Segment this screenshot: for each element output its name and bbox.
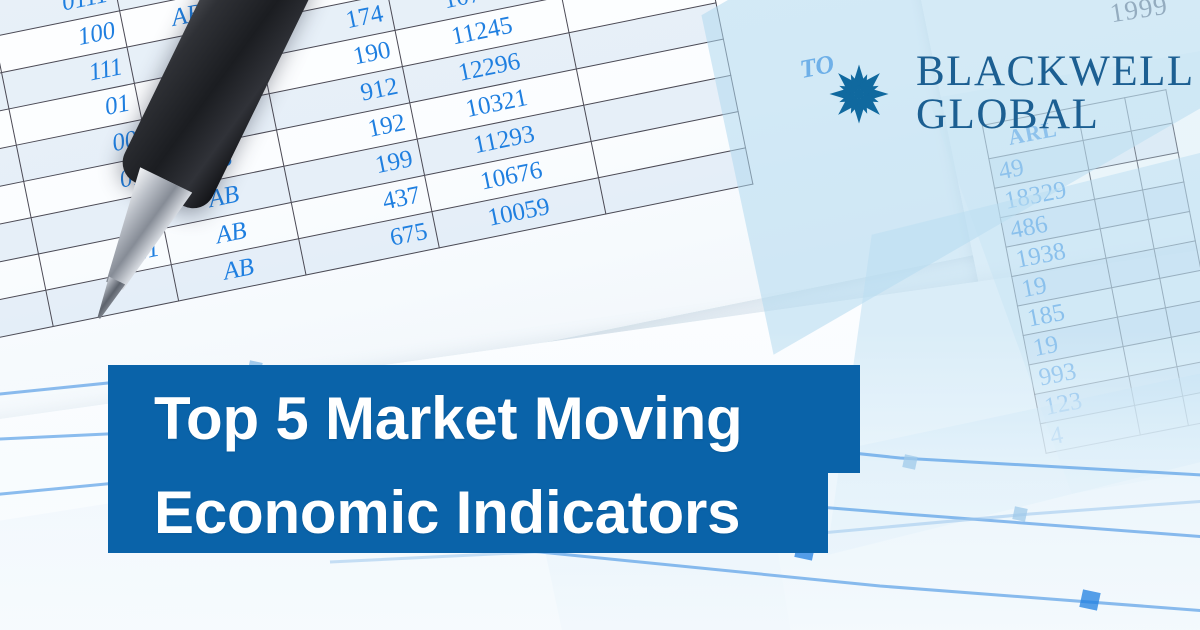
banner-line-2: Economic Indicators (108, 473, 828, 553)
blackwell-snowflake-logo-icon (818, 53, 900, 135)
brand-logo[interactable]: BLACKWELL GLOBAL (818, 44, 1188, 144)
title-banner: Top 5 Market Moving Economic Indicators (108, 365, 860, 553)
brand-wordmark: BLACKWELL GLOBAL (916, 51, 1195, 136)
brand-name-line1: BLACKWELL (916, 51, 1195, 94)
brand-name-line2: GLOBAL (916, 94, 1195, 137)
pen-cone (88, 167, 192, 298)
banner-line-1: Top 5 Market Moving (108, 365, 860, 473)
promo-banner-canvas: ASD RES B101AB31210535A0111AB11910224A10… (0, 0, 1200, 630)
chart-marker (1012, 506, 1027, 521)
chart-marker (902, 454, 917, 469)
chart-marker (1079, 589, 1100, 610)
